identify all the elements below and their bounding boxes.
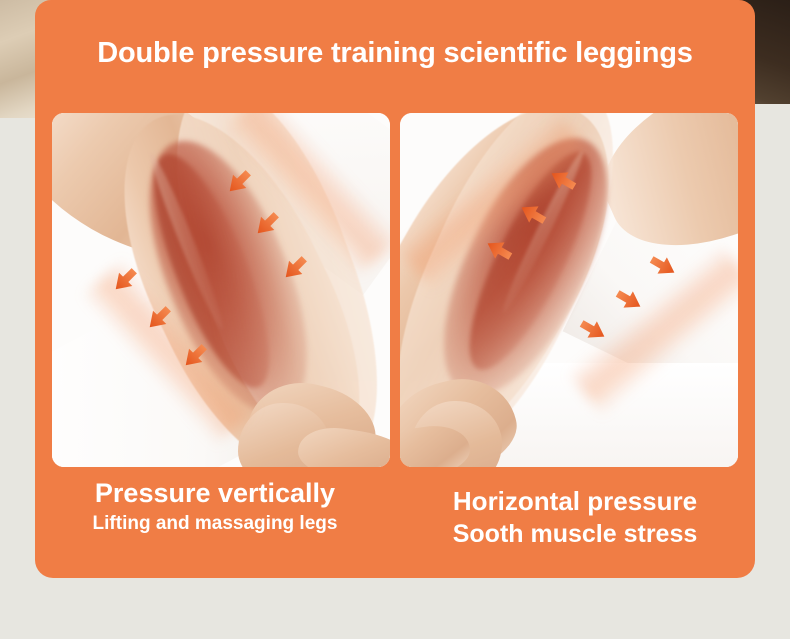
caption-vertical-pressure: Pressure vertically Lifting and massagin… xyxy=(35,474,395,574)
caption-sub-left: Lifting and massaging legs xyxy=(35,510,395,538)
leg-photo-horizontal xyxy=(400,113,738,467)
leg-photo-vertical xyxy=(52,113,390,467)
panel-vertical-pressure[interactable] xyxy=(52,113,390,467)
caption-group: Pressure vertically Lifting and massagin… xyxy=(35,474,755,574)
product-infographic-page: Double pressure training scientific legg… xyxy=(0,0,790,639)
caption-horizontal-pressure: Horizontal pressure Sooth muscle stress xyxy=(395,474,755,574)
caption-main-left: Pressure vertically xyxy=(35,476,395,510)
image-panel-group xyxy=(52,113,738,467)
feature-card: Double pressure training scientific legg… xyxy=(35,0,755,578)
panel-horizontal-pressure[interactable] xyxy=(400,113,738,467)
caption-sub-right: Sooth muscle stress xyxy=(395,518,755,550)
caption-main-right: Horizontal pressure xyxy=(395,484,755,518)
page-title: Double pressure training scientific legg… xyxy=(35,34,755,72)
